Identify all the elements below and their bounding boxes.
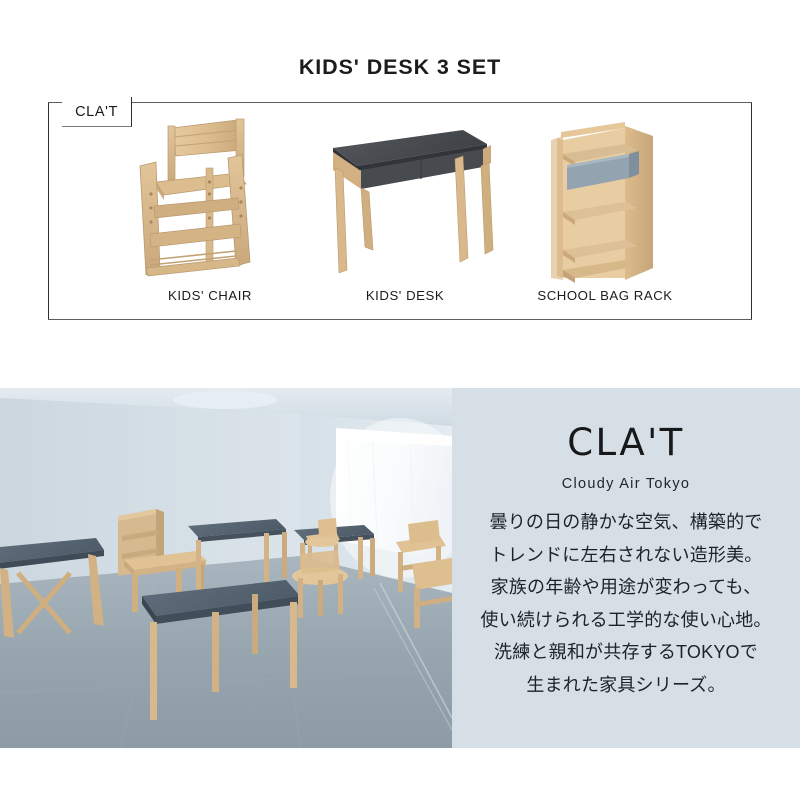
product-label-kids-chair: KIDS' CHAIR xyxy=(110,288,310,303)
kids-desk-icon xyxy=(305,110,505,285)
description-line: 生まれた家具シリーズ。 xyxy=(452,669,800,702)
product-item-school-bag-rack[interactable]: SCHOOL BAG RACK xyxy=(505,110,705,315)
description-line: トレンドに左右されない造形美。 xyxy=(452,539,800,572)
description-line: 使い続けられる工学的な使い心地。 xyxy=(452,604,800,637)
brand-logo: CLA'T xyxy=(452,421,800,464)
product-label-kids-desk: KIDS' DESK xyxy=(305,288,505,303)
brand-badge: CLA'T xyxy=(62,97,132,127)
brand-description: 曇りの日の静かな空気、構築的で トレンドに左右されない造形美。 家族の年齢や用途… xyxy=(452,506,800,701)
brand-tagline: Cloudy Air Tokyo xyxy=(452,476,800,492)
page-title: KIDS' DESK 3 SET xyxy=(0,55,800,80)
lifestyle-section: CLA'T Cloudy Air Tokyo 曇りの日の静かな空気、構築的で ト… xyxy=(0,388,800,748)
kids-chair-icon xyxy=(110,110,310,285)
school-bag-rack-icon xyxy=(505,110,705,285)
product-label-school-bag-rack: SCHOOL BAG RACK xyxy=(505,288,705,303)
product-lineup-section: KIDS' DESK 3 SET CLA'T xyxy=(0,0,800,380)
description-line: 家族の年齢や用途が変わっても、 xyxy=(452,571,800,604)
description-line: 曇りの日の静かな空気、構築的で xyxy=(452,506,800,539)
description-line: 洗練と親和が共存するTOKYOで xyxy=(452,636,800,669)
product-item-kids-chair[interactable]: KIDS' CHAIR xyxy=(110,110,310,315)
product-item-kids-desk[interactable]: KIDS' DESK xyxy=(305,110,505,315)
brand-info-panel: CLA'T Cloudy Air Tokyo 曇りの日の静かな空気、構築的で ト… xyxy=(452,388,800,748)
showroom-interior-photo xyxy=(0,388,452,748)
